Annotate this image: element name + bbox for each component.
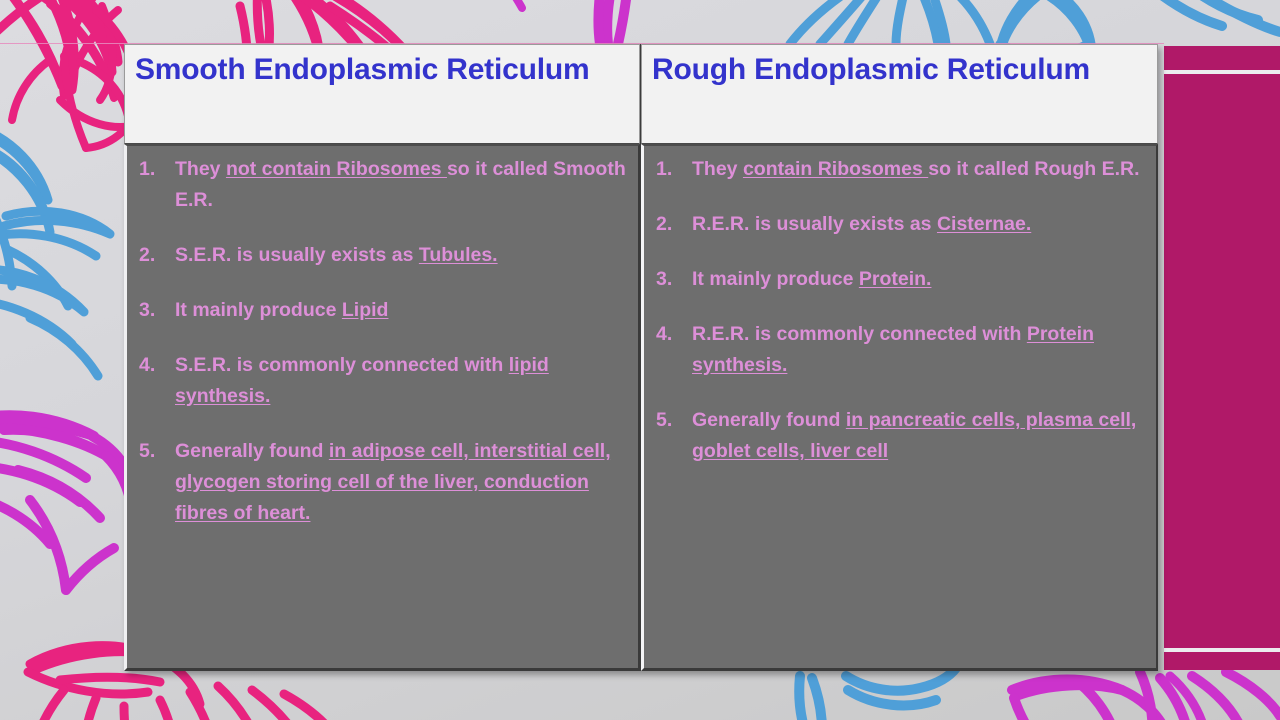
list-item: It mainly produce Lipid (135, 295, 632, 326)
column-rough-er: Rough Endoplasmic Reticulum They contain… (641, 44, 1158, 671)
list-item: They contain Ribosomes so it called Roug… (652, 154, 1150, 185)
accent-bar-right (1164, 46, 1280, 670)
pink-flower-bottom-center-left (30, 686, 340, 720)
magenta-flower-bottomright (1012, 672, 1280, 720)
comparison-table: Smooth Endoplasmic Reticulum They not co… (124, 44, 1158, 671)
plain-text: S.E.R. is commonly connected with (175, 354, 509, 376)
pink-flower-topleft (12, 0, 140, 127)
blue-flower-topright (790, 0, 990, 44)
list-item: R.E.R. is commonly connected with Protei… (652, 319, 1150, 381)
list-item: S.E.R. is usually exists as Tubules. (135, 240, 632, 271)
blue-stem-topright (1150, 0, 1280, 32)
list-item: Generally found in adipose cell, interst… (135, 436, 632, 529)
column-smooth-er: Smooth Endoplasmic Reticulum They not co… (124, 44, 641, 671)
plain-text: R.E.R. is commonly connected with (692, 323, 1027, 345)
emphasis-text: not contain Ribosomes (226, 158, 447, 180)
list-item: They not contain Ribosomes so it called … (135, 154, 632, 216)
accent-bar-rule-bottom (1164, 648, 1280, 652)
pink-leaf-cluster-topleft (0, 0, 118, 90)
pink-leaf-outline-left (38, 0, 137, 148)
plain-text: It mainly produce (692, 268, 859, 290)
magenta-dot-top (510, 0, 522, 8)
emphasis-text: Cisternae. (937, 213, 1031, 235)
emphasis-text: Tubules. (419, 244, 498, 266)
list-item: Generally found in pancreatic cells, pla… (652, 405, 1150, 467)
plain-text: They (692, 158, 743, 180)
list-smooth-er: They not contain Ribosomes so it called … (135, 154, 632, 529)
column-title-smooth-er: Smooth Endoplasmic Reticulum (135, 53, 589, 87)
header-cell-smooth-er: Smooth Endoplasmic Reticulum (124, 44, 640, 144)
slide-canvas: Smooth Endoplasmic Reticulum They not co… (0, 0, 1280, 720)
plain-text: Generally found (175, 440, 329, 462)
emphasis-text: contain Ribosomes (743, 158, 928, 180)
emphasis-text: Protein. (859, 268, 932, 290)
list-item: R.E.R. is usually exists as Cisternae. (652, 209, 1150, 240)
blue-leaf-left (0, 128, 110, 306)
body-cell-rough-er: They contain Ribosomes so it called Roug… (641, 144, 1158, 671)
magenta-arc-bottomright (1170, 676, 1204, 720)
plain-text: It mainly produce (175, 299, 342, 321)
accent-bar-rule-top (1164, 70, 1280, 74)
list-rough-er: They contain Ribosomes so it called Roug… (652, 154, 1150, 467)
magenta-streak-top (599, 0, 629, 44)
plain-text: They (175, 158, 226, 180)
column-title-rough-er: Rough Endoplasmic Reticulum (652, 53, 1090, 87)
blue-petal-left (0, 269, 98, 376)
plain-text: S.E.R. is usually exists as (175, 244, 419, 266)
blue-stem-bottom (799, 668, 956, 720)
plain-text: so it called Rough E.R. (928, 158, 1139, 180)
magenta-flower-left (0, 415, 134, 590)
plain-text: R.E.R. is usually exists as (692, 213, 937, 235)
list-item: It mainly produce Protein. (652, 264, 1150, 295)
body-cell-smooth-er: They not contain Ribosomes so it called … (124, 144, 640, 671)
plain-text: Generally found (692, 409, 846, 431)
header-cell-rough-er: Rough Endoplasmic Reticulum (641, 44, 1158, 144)
emphasis-text: Lipid (342, 299, 389, 321)
list-item: S.E.R. is commonly connected with lipid … (135, 350, 632, 412)
